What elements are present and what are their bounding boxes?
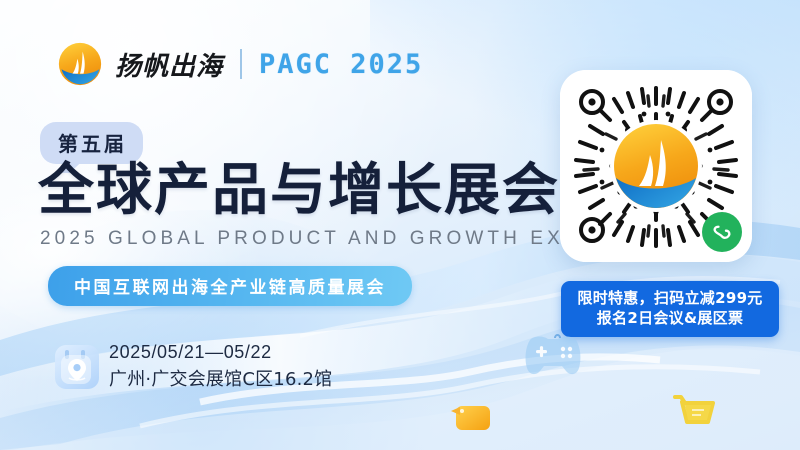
slogan-pill: 中国互联网出海全产业链高质量展会 [48, 266, 412, 306]
shopping-cart-icon [672, 392, 718, 432]
brand-name: 扬帆出海 [115, 46, 223, 83]
qr-code-card[interactable] [560, 70, 752, 262]
brand-header: 扬帆出海 PAGC 2025 [58, 42, 423, 86]
event-info: 2025/05/21—05/22 广州·广交会展馆C区16.2馆 [55, 342, 332, 391]
promo-banner: 扬帆出海 PAGC 2025 第五届 全球产品与增长展会 2025 GLOBAL… [0, 0, 800, 450]
event-code: PAGC 2025 [259, 49, 423, 80]
brand-divider [240, 49, 242, 79]
game-controller-icon [524, 334, 582, 378]
event-date: 2025/05/21—05/22 [109, 342, 332, 363]
event-info-text: 2025/05/21—05/22 广州·广交会展馆C区16.2馆 [109, 342, 332, 391]
promo-line-1: 限时特惠，扫码立减299元 [567, 288, 773, 308]
map-pin-icon [55, 345, 99, 389]
promo-line-2: 报名2日会议&展区票 [567, 308, 773, 328]
promo-box[interactable]: 限时特惠，扫码立减299元 报名2日会议&展区票 [561, 281, 779, 337]
sailboat-sun-logo-icon [58, 42, 102, 86]
page-title: 全球产品与增长展会 [38, 163, 560, 219]
price-tag-icon [448, 400, 494, 434]
event-venue: 广州·广交会展馆C区16.2馆 [109, 365, 332, 391]
wechat-miniprogram-icon [702, 212, 742, 252]
